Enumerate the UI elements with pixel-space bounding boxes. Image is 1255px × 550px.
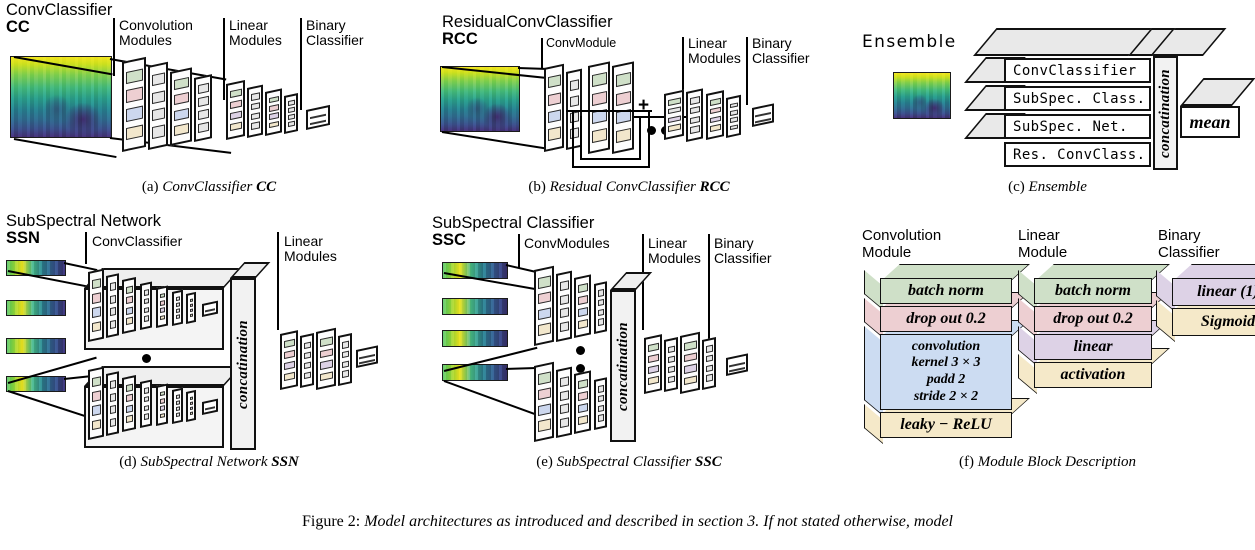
panel-a-title-abbr: CC <box>6 19 112 36</box>
panel-a-leader-linear <box>223 18 225 100</box>
panel-b-body: ResidualConvClassifier RCC ConvModule Li… <box>420 0 838 172</box>
conv-layer-leaky-relu: leaky − ReLU <box>880 412 1012 438</box>
conv-layer-convolution: convolution kernel 3 × 3 padd 2 stride 2… <box>880 334 1012 410</box>
sub-band-1 <box>442 298 508 315</box>
panel-b-caption: (b) Residual ConvClassifier RCC <box>420 179 838 196</box>
panel-ensemble: Ensemble ConvClassifier SubSpec. Class. … <box>840 0 1255 200</box>
linear-layer-batch-norm: batch norm <box>1034 278 1152 304</box>
panel-a-caption-index: (a) <box>142 179 159 195</box>
sub-band-2 <box>6 338 66 354</box>
binary-classifier-block <box>752 103 774 127</box>
mean-slab <box>1180 78 1255 106</box>
band-link-0a <box>64 262 98 271</box>
branch2-conv-1b <box>556 367 572 438</box>
panel-a-caption-text: ConvClassifier <box>162 179 252 195</box>
branch2-linear-1 <box>156 383 168 426</box>
linear-module-1b <box>686 88 703 142</box>
sub-band-0 <box>442 262 508 279</box>
final-linear-1b <box>300 333 314 388</box>
skip-connection-right <box>648 110 650 168</box>
concatenation-block: concatination <box>610 290 636 442</box>
linear-module-2 <box>265 88 282 136</box>
linear-layer-drop-out: drop out 0.2 <box>1034 306 1152 332</box>
conv-module-2b <box>194 74 212 142</box>
panel-a-caption-abbr: CC <box>256 179 276 195</box>
projection-line-inner-bottom <box>442 131 553 150</box>
branch2-conv-1 <box>88 367 104 440</box>
residual-add-symbol: + <box>638 96 649 115</box>
final-linear-2 <box>316 328 336 390</box>
concatenation-block: concatination <box>1153 56 1178 170</box>
ensemble-slab-top <box>973 28 1226 56</box>
panel-f-caption-text: Module Block Description <box>978 454 1136 470</box>
input-spectrogram <box>440 66 520 132</box>
figure-caption-text: Model architectures as introduced and de… <box>364 513 953 530</box>
panel-a-title-text: ConvClassifier <box>6 1 112 19</box>
panel-d-leader-conv <box>85 232 87 264</box>
conv-module-1b <box>148 62 168 150</box>
panel-d-label-convclassifier: ConvClassifier <box>92 234 182 249</box>
skip-connection-inner-bottom <box>580 158 640 160</box>
panel-b-caption-abbr: RCC <box>700 179 730 195</box>
panel-f-caption-index: (f) <box>959 454 974 470</box>
panel-b-caption-index: (b) <box>528 179 546 195</box>
branch1-conv-2 <box>574 274 591 338</box>
binary-classifier-block <box>306 105 330 130</box>
ensemble-member-3: Res. ConvClass. <box>1004 142 1151 167</box>
branch2-conv-2b <box>594 377 607 430</box>
panel-d-label-linear: Linear Modules <box>284 234 337 264</box>
panel-a-leader-binary <box>300 18 302 110</box>
panel-module-block-description: Convolution Module batch norm drop out 0… <box>840 210 1255 475</box>
linear-module-1b <box>247 85 263 138</box>
linear-module-2 <box>706 90 724 140</box>
branch2-conv-2 <box>574 370 591 434</box>
panel-a-caption: (a) ConvClassifier CC <box>0 179 418 196</box>
concat-cap <box>610 272 652 290</box>
conv-module-heading: Convolution Module <box>862 228 941 261</box>
binary-classifier-block <box>356 345 378 368</box>
branch2-linear-3 <box>186 390 196 422</box>
panel-c-title: Ensemble <box>862 32 957 52</box>
panel-e-label-linear: Linear Modules <box>648 236 701 266</box>
panel-b-leader-binary <box>746 37 748 105</box>
panel-e-caption-index: (e) <box>536 454 553 470</box>
branch1-conv-2 <box>122 277 136 334</box>
panel-f-body: Convolution Module batch norm drop out 0… <box>840 210 1255 447</box>
band-link-0a <box>506 264 536 272</box>
final-linear-1 <box>644 334 662 394</box>
panel-d-body: SubSpectral Network SSN ConvClassifier L… <box>0 210 418 447</box>
panel-b-title-text: ResidualConvClassifier <box>442 13 613 31</box>
skip-connection-inner-right <box>639 116 641 160</box>
panel-d-leader-linear <box>277 232 279 330</box>
skip-connection-left <box>572 110 574 168</box>
linear-layer-activation-label: activation <box>1061 366 1126 385</box>
input-spectrogram <box>10 56 112 138</box>
skip-connection-bottom <box>572 166 650 168</box>
panel-f-caption: (f) Module Block Description <box>840 454 1255 471</box>
branch1-conv-2b <box>594 281 607 334</box>
binary-layer-sigmoid: Sigmoid <box>1172 308 1255 336</box>
conv-layer-drop-out: drop out 0.2 <box>880 306 1012 332</box>
branch2-conv-2b <box>140 379 152 428</box>
conv-layer-batch-norm: batch norm <box>880 278 1012 304</box>
figure-number: Figure 2: <box>302 513 360 530</box>
panel-b-label-linear: Linear Modules <box>688 36 741 66</box>
projection-line-inner-bottom <box>14 138 117 158</box>
linear-layer-batch-norm-label: batch norm <box>1055 282 1131 301</box>
branch1-conv-1 <box>88 269 104 342</box>
ensemble-member-1: SubSpec. Class. <box>1004 86 1151 111</box>
branch1-conv-1b <box>556 271 572 342</box>
conv-layer-leaky-relu-label: leaky − ReLU <box>900 416 991 435</box>
linear-module-1 <box>226 80 245 140</box>
panel-a-title: ConvClassifier CC <box>6 2 112 37</box>
final-linear-2b <box>338 333 352 386</box>
panel-c-caption-text: Ensemble <box>1029 179 1087 195</box>
panel-c-body: Ensemble ConvClassifier SubSpec. Class. … <box>840 0 1255 172</box>
panel-a-body: ConvClassifier CC Convolution Modules Li… <box>0 0 418 172</box>
linear-layer-activation: activation <box>1034 362 1152 388</box>
linear-module-heading: Linear Module <box>1018 228 1067 261</box>
panel-b-leader-linear <box>682 37 684 95</box>
concatenation-label: concatination <box>235 320 252 409</box>
binary-layer-linear: linear (1) <box>1172 278 1255 306</box>
panel-e-body: SubSpectral Classifier SSC ConvModules L… <box>420 210 838 447</box>
linear-layer-linear-label: linear <box>1073 338 1112 357</box>
panel-b-label-convmodule: ConvModule <box>546 37 616 51</box>
branch1-conv-1b <box>106 273 119 338</box>
branch-shell-body-2 <box>84 386 224 448</box>
sub-band-1 <box>6 300 66 316</box>
panel-d-title-text: SubSpectral Network <box>6 212 161 230</box>
branch-shell-body-1 <box>84 288 224 350</box>
panel-c-caption-index: (c) <box>1008 179 1025 195</box>
conv-module-1 <box>122 57 146 152</box>
panel-c-caption: (c) Ensemble <box>840 179 1255 196</box>
final-linear-2b <box>702 337 716 390</box>
binary-layer-sigmoid-label: Sigmoid <box>1201 313 1255 332</box>
panel-e-label-convmodules: ConvModules <box>524 236 610 251</box>
branch2-conv-2 <box>122 375 136 432</box>
conv-layer-batch-norm-label: batch norm <box>908 282 984 301</box>
binary-classifier-heading: Binary Classifier <box>1158 228 1220 261</box>
panel-e-caption-text: SubSpectral Classifier <box>557 454 692 470</box>
sub-band-3 <box>6 376 66 392</box>
panel-d-caption: (d) SubSpectral Network SSN <box>0 454 418 471</box>
branch2-conv-1b <box>106 371 119 436</box>
branch2-linear-2 <box>172 388 183 424</box>
linear-layer-drop-out-label: drop out 0.2 <box>1053 310 1133 329</box>
panel-residual-convclassifier: ResidualConvClassifier RCC ConvModule Li… <box>420 0 838 200</box>
panel-b-label-binary: Binary Classifier <box>752 36 810 66</box>
concat-cap <box>230 262 270 278</box>
panel-convclassifier: ConvClassifier CC Convolution Modules Li… <box>0 0 418 200</box>
skip-connection-inner-left <box>580 116 582 160</box>
linear-module-2b <box>726 95 741 138</box>
residual-block-1 <box>588 61 610 154</box>
panel-e-leader-conv <box>518 234 520 268</box>
conv-layer-drop-out-label: drop out 0.2 <box>906 310 986 329</box>
panel-a-label-linear: Linear Modules <box>229 18 282 48</box>
sub-band-2 <box>442 330 508 347</box>
binary-layer-linear-label: linear (1) <box>1197 283 1255 302</box>
panel-e-caption-abbr: SSC <box>695 454 722 470</box>
final-linear-2 <box>680 332 700 394</box>
panel-subspectral-network: SubSpectral Network SSN ConvClassifier L… <box>0 210 418 475</box>
figure-2: ConvClassifier CC Convolution Modules Li… <box>0 0 1255 550</box>
branch1-conv-1 <box>534 266 554 346</box>
binary-classifier-block <box>726 353 748 376</box>
panel-e-title-text: SubSpectral Classifier <box>432 214 594 232</box>
conv-module-block <box>544 64 564 152</box>
panel-subspectral-classifier: SubSpectral Classifier SSC ConvModules L… <box>420 210 838 475</box>
figure-caption: Figure 2: Model architectures as introdu… <box>0 512 1255 533</box>
branch1-linear-3 <box>186 292 196 324</box>
branch1-linear-1 <box>156 285 168 328</box>
ensemble-member-0: ConvClassifier <box>1004 58 1151 83</box>
panel-d-caption-abbr: SSN <box>271 454 299 470</box>
mean-block: mean <box>1180 106 1240 138</box>
panel-a-label-conv: Convolution Modules <box>119 18 193 48</box>
branch1-conv-2b <box>140 281 152 330</box>
ensemble-member-2: SubSpec. Net. <box>1004 114 1151 139</box>
linear-module-2b <box>284 93 298 134</box>
panel-d-caption-index: (d) <box>119 454 137 470</box>
final-linear-1 <box>280 330 298 390</box>
panel-d-caption-text: SubSpectral Network <box>140 454 267 470</box>
branch2-conv-1 <box>534 362 554 442</box>
panel-a-leader-conv <box>113 18 115 76</box>
concatenation-block: concatination <box>230 278 256 450</box>
band-link-3c <box>444 380 539 416</box>
sub-band-0 <box>6 260 66 276</box>
final-linear-1b <box>664 337 678 392</box>
conv-module-2 <box>170 67 192 146</box>
panel-e-caption: (e) SubSpectral Classifier SSC <box>420 454 838 471</box>
input-spectrogram <box>893 72 951 119</box>
concatenation-label: concatination <box>615 322 632 411</box>
sub-band-3 <box>442 364 508 381</box>
branch1-linear-2 <box>172 290 183 326</box>
residual-block-2 <box>612 61 634 154</box>
panel-b-leader-convmodule <box>541 38 543 68</box>
conv-layer-convolution-label: convolution kernel 3 × 3 padd 2 stride 2… <box>911 339 980 405</box>
concatenation-label: concatination <box>1157 69 1174 158</box>
panel-e-label-binary: Binary Classifier <box>714 236 772 266</box>
panel-b-caption-text: Residual ConvClassifier <box>550 179 696 195</box>
linear-layer-linear: linear <box>1034 334 1152 360</box>
linear-module-1 <box>664 90 684 140</box>
panel-a-label-binary: Binary Classifier <box>306 18 364 48</box>
